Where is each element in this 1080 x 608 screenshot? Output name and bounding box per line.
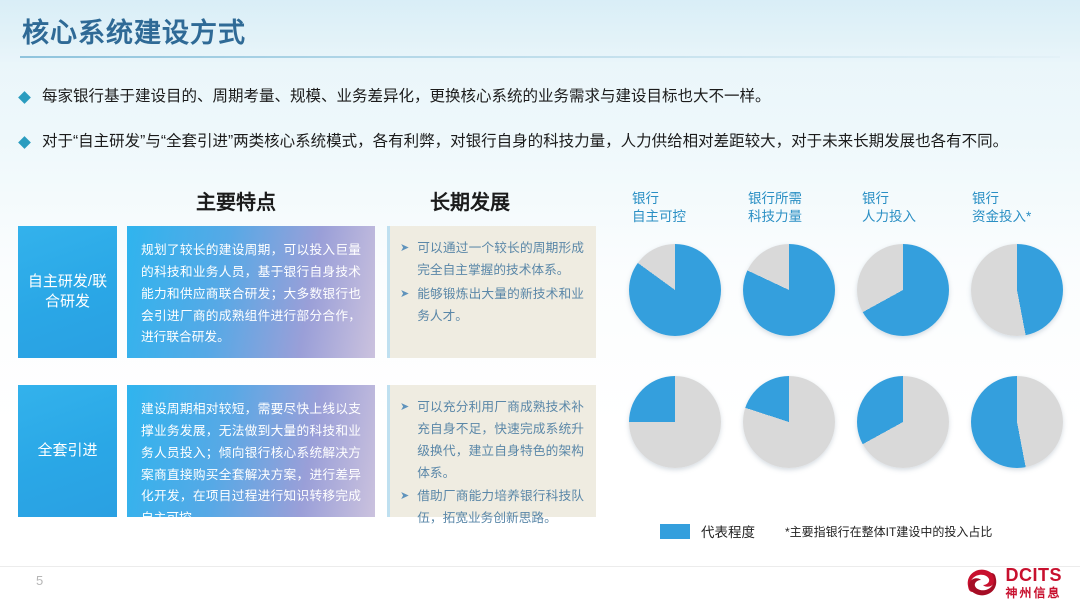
pie-slot bbox=[618, 376, 732, 468]
bullet-text: 每家银行基于建设目的、周期考量、规模、业务差异化，更换核心系统的业务需求与建设目… bbox=[42, 86, 771, 108]
pie-slot bbox=[846, 244, 960, 336]
logo-text-en: DCITS bbox=[1006, 566, 1063, 584]
table-row: 全套引进 建设周期相对较短，需要尽快上线以支撑业务发展，无法做到大量的科技和业务… bbox=[18, 385, 596, 517]
pie-slot bbox=[732, 376, 846, 468]
list-item-label: 能够锻炼出大量的新技术和业务人才。 bbox=[417, 284, 584, 328]
pie-column-heading-tech-capability: 银行所需 科技力量 bbox=[748, 190, 802, 226]
pie-chart bbox=[857, 376, 949, 468]
page-title: 核心系统建设方式 bbox=[22, 11, 246, 50]
logo-text-cn: 神州信息 bbox=[1006, 587, 1063, 599]
footer-divider bbox=[0, 566, 1080, 567]
list-item-label: 可以充分利用厂商成熟技术补充自身不足，快速完成系统升级换代，建立自身特色的架构体… bbox=[417, 397, 584, 484]
pie-chart bbox=[743, 244, 835, 336]
list-item: ➤ 能够锻炼出大量的新技术和业务人才。 bbox=[400, 284, 584, 328]
column-heading-longterm: 长期发展 bbox=[430, 186, 510, 215]
logo-wordmark: DCITS 神州信息 bbox=[1006, 566, 1063, 599]
dcits-swirl-icon bbox=[963, 566, 1001, 599]
pie-chart-row-full-procurement bbox=[618, 376, 1074, 468]
row-label-self-developed: 自主研发/联合研发 bbox=[18, 226, 117, 358]
diamond-bullet-icon bbox=[18, 136, 31, 149]
pie-slot bbox=[618, 244, 732, 336]
legend-footnote: *主要指银行在整体IT建设中的投入占比 bbox=[785, 523, 992, 540]
row-longterm-cell: ➤ 可以充分利用厂商成熟技术补充自身不足，快速完成系统升级换代，建立自身特色的架… bbox=[387, 385, 596, 517]
column-heading-features: 主要特点 bbox=[196, 186, 276, 215]
pie-chart bbox=[629, 376, 721, 468]
arrow-bullet-icon: ➤ bbox=[400, 486, 409, 507]
list-item-label: 可以通过一个较长的周期形成完全自主掌握的技术体系。 bbox=[417, 238, 584, 282]
row-label-full-procurement: 全套引进 bbox=[18, 385, 117, 517]
pie-column-heading-manpower: 银行 人力投入 bbox=[862, 190, 916, 226]
bullet-text: 对于“自主研发”与“全套引进”两类核心系统模式，各有利弊，对银行自身的科技力量，… bbox=[42, 131, 1008, 153]
pie-slot bbox=[846, 376, 960, 468]
pie-chart bbox=[743, 376, 835, 468]
slide-canvas: 核心系统建设方式 每家银行基于建设目的、周期考量、规模、业务差异化，更换核心系统… bbox=[0, 0, 1080, 608]
bullet-item: 对于“自主研发”与“全套引进”两类核心系统模式，各有利弊，对银行自身的科技力量，… bbox=[20, 131, 1008, 153]
pie-column-heading-autonomy: 银行 自主可控 bbox=[632, 190, 686, 226]
table-row: 自主研发/联合研发 规划了较长的建设周期，可以投入巨量的科技和业务人员，基于银行… bbox=[18, 226, 596, 358]
pie-chart bbox=[629, 244, 721, 336]
legend-label: 代表程度 bbox=[701, 521, 755, 541]
diamond-bullet-icon bbox=[18, 91, 31, 104]
page-number: 5 bbox=[36, 573, 43, 588]
pie-chart bbox=[971, 376, 1063, 468]
list-item: ➤ 可以充分利用厂商成熟技术补充自身不足，快速完成系统升级换代，建立自身特色的架… bbox=[400, 397, 584, 484]
pie-chart-row-self-developed bbox=[618, 244, 1074, 336]
pie-slot bbox=[960, 376, 1074, 468]
chart-legend: 代表程度 *主要指银行在整体IT建设中的投入占比 bbox=[660, 521, 992, 541]
arrow-bullet-icon: ➤ bbox=[400, 284, 409, 305]
row-features-cell: 建设周期相对较短，需要尽快上线以支撑业务发展，无法做到大量的科技和业务人员投入；… bbox=[127, 385, 375, 517]
pie-chart bbox=[857, 244, 949, 336]
pie-slot bbox=[960, 244, 1074, 336]
list-item: ➤ 借助厂商能力培养银行科技队伍，拓宽业务创新思路。 bbox=[400, 486, 584, 530]
row-longterm-cell: ➤ 可以通过一个较长的周期形成完全自主掌握的技术体系。 ➤ 能够锻炼出大量的新技… bbox=[387, 226, 596, 358]
list-item: ➤ 可以通过一个较长的周期形成完全自主掌握的技术体系。 bbox=[400, 238, 584, 282]
company-logo: DCITS 神州信息 bbox=[963, 566, 1063, 599]
bullet-item: 每家银行基于建设目的、周期考量、规模、业务差异化，更换核心系统的业务需求与建设目… bbox=[20, 86, 771, 108]
pie-chart-grid bbox=[618, 244, 1074, 468]
legend-swatch-icon bbox=[660, 524, 690, 539]
arrow-bullet-icon: ➤ bbox=[400, 397, 409, 418]
pie-column-heading-funding: 银行 资金投入* bbox=[972, 190, 1031, 226]
row-features-cell: 规划了较长的建设周期，可以投入巨量的科技和业务人员，基于银行自身技术能力和供应商… bbox=[127, 226, 375, 358]
pie-slot bbox=[732, 244, 846, 336]
arrow-bullet-icon: ➤ bbox=[400, 238, 409, 259]
list-item-label: 借助厂商能力培养银行科技队伍，拓宽业务创新思路。 bbox=[417, 486, 584, 530]
title-divider bbox=[20, 56, 1060, 58]
pie-chart bbox=[971, 244, 1063, 336]
